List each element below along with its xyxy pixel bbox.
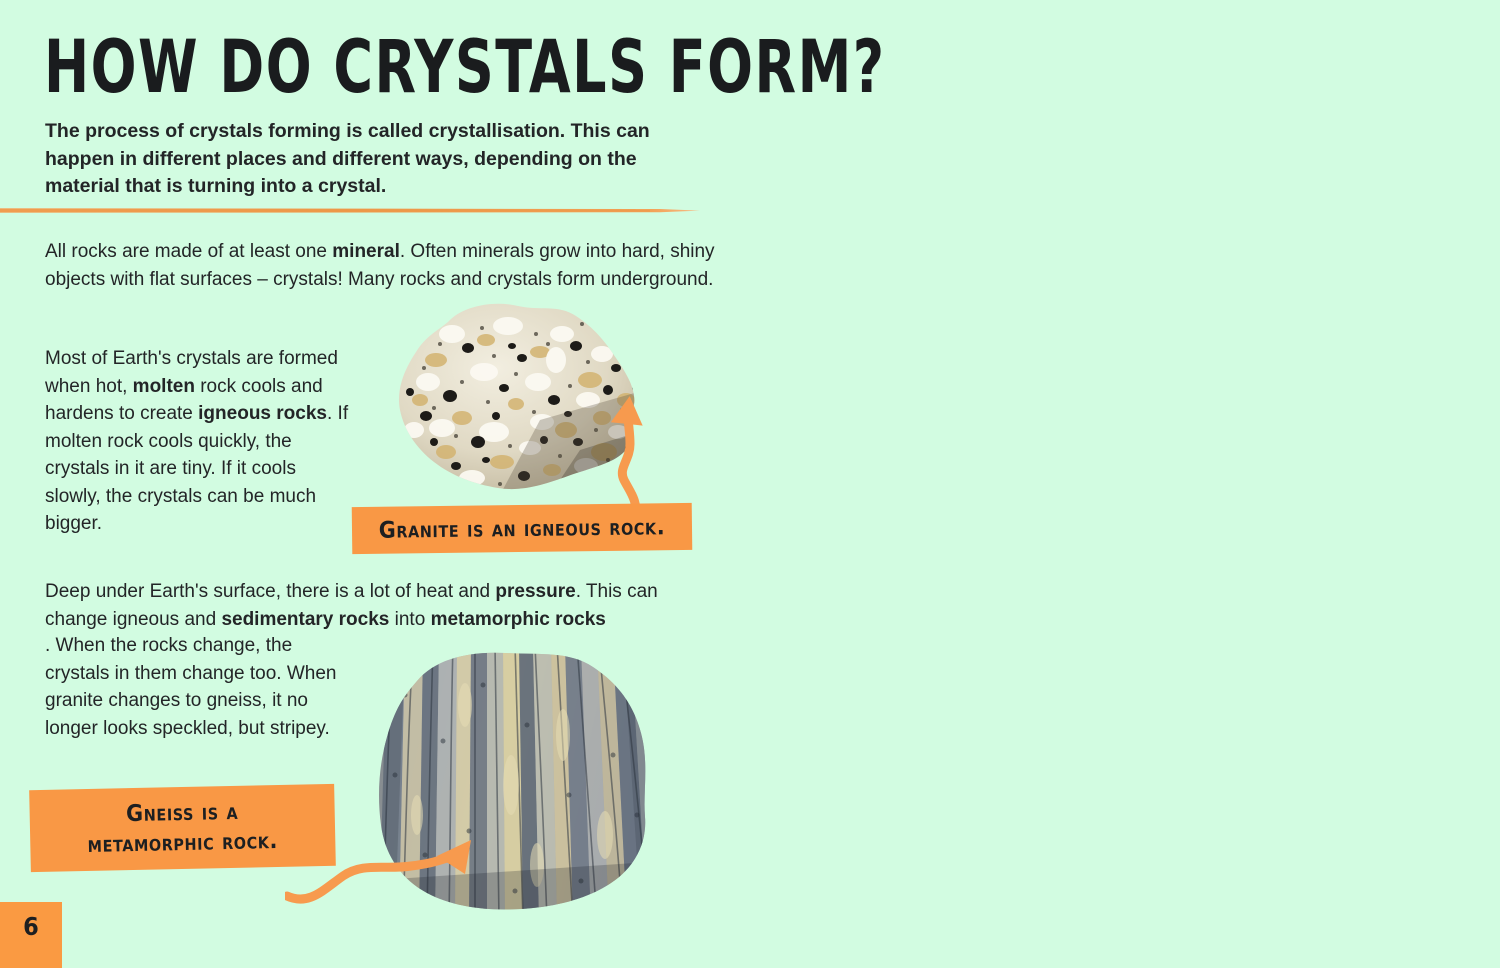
page-number-left-text: 6 bbox=[23, 912, 39, 941]
bold-term-igneous-rocks: igneous rocks bbox=[198, 403, 327, 424]
page-title: HOW DO CRYSTALS FORM? bbox=[44, 30, 704, 106]
page-number-left: 6 bbox=[0, 902, 62, 968]
right-page: Crystals can form in different situation… bbox=[750, 0, 1500, 968]
bold-term-metamorphic-rocks: metamorphic rocks bbox=[431, 609, 606, 630]
paragraph-rocks-minerals: All rocks are made of at least one miner… bbox=[45, 238, 715, 293]
text-run: All rocks are made of at least one bbox=[45, 241, 332, 262]
intro-paragraph: The process of crystals forming is calle… bbox=[45, 118, 695, 201]
caption-gneiss-line2: metamorphic rock. bbox=[87, 826, 278, 860]
caption-granite-text: Granite is an igneous rock. bbox=[379, 514, 666, 543]
book-page-spread: HOW DO CRYSTALS FORM? The process of cry… bbox=[0, 0, 1500, 968]
bold-term-mineral: mineral bbox=[332, 241, 400, 262]
caption-banner-granite: Granite is an igneous rock. bbox=[352, 503, 693, 554]
text-run: into bbox=[389, 609, 430, 630]
left-page: HOW DO CRYSTALS FORM? The process of cry… bbox=[0, 0, 750, 968]
bold-term-sedimentary-rocks: sedimentary rocks bbox=[221, 609, 389, 630]
orange-divider-rule bbox=[0, 206, 700, 215]
caption-banner-gneiss: Gneiss is a metamorphic rock. bbox=[29, 784, 336, 872]
caption-gneiss-line1: Gneiss is a bbox=[126, 797, 239, 829]
paragraph-metamorphic-top: Deep under Earth's surface, there is a l… bbox=[45, 578, 710, 633]
text-run: Deep under Earth's surface, there is a l… bbox=[45, 581, 495, 602]
paragraph-metamorphic-rest: . When the rocks change, the crystals in… bbox=[45, 632, 355, 742]
bold-term-molten: molten bbox=[133, 376, 195, 397]
text-run: . When the rocks change, the crystals in… bbox=[45, 635, 336, 739]
paragraph-igneous: Most of Earth's crystals are formed when… bbox=[45, 345, 355, 538]
bold-term-pressure: pressure bbox=[495, 581, 575, 602]
